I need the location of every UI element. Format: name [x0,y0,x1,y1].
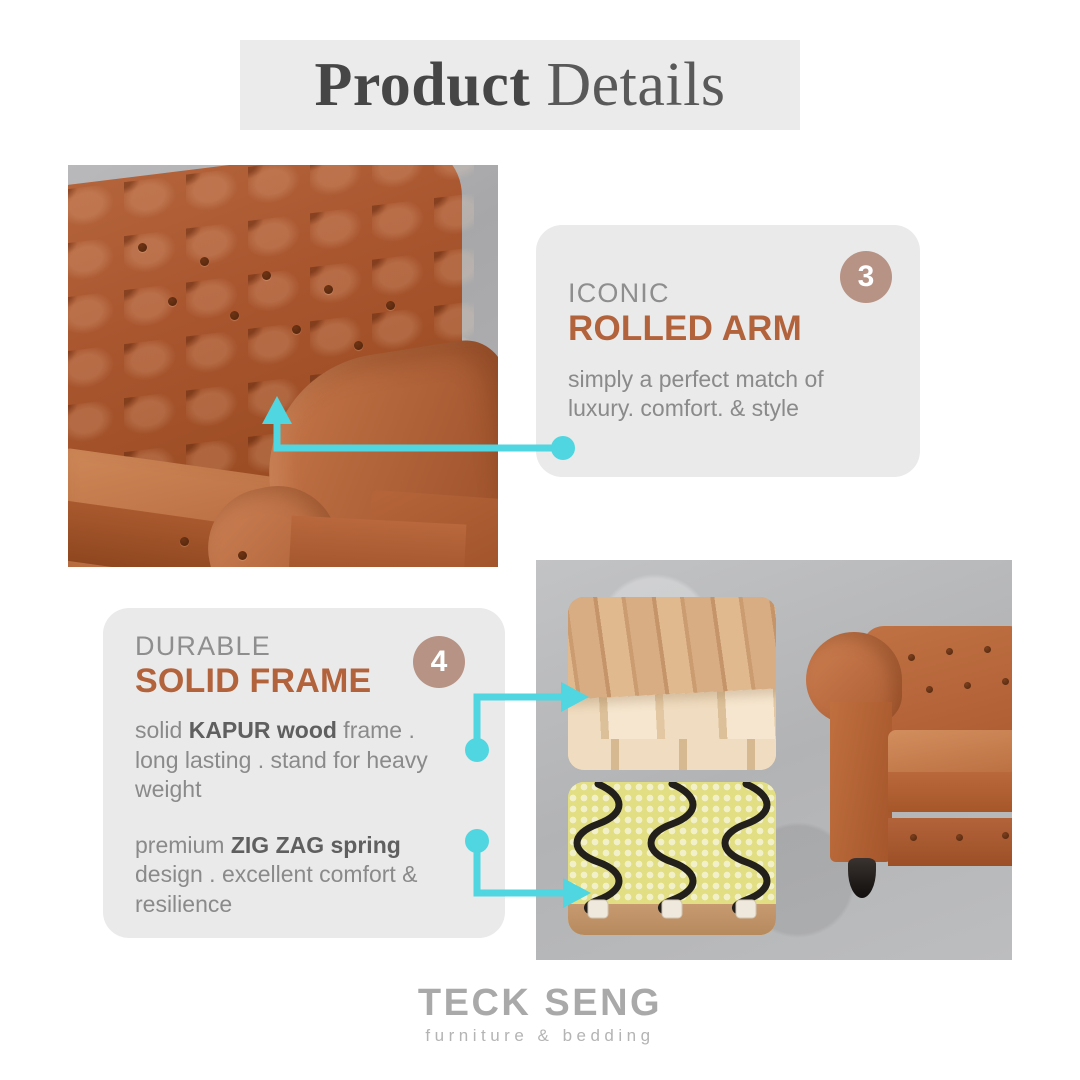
brand-footer: TECK SENG furniture & bedding [0,984,1080,1046]
feature-card-solid-frame[interactable]: 4 DURABLE SOLID FRAME solid KAPUR wood f… [103,608,505,938]
leather-sofa-illustration [68,165,498,567]
page-title-strong: Product [314,51,530,119]
page-title-text: Product Details [314,50,725,121]
kapur-wood-photo [568,597,776,770]
page-title: Product Details [240,40,800,130]
card-3-eyebrow: ICONIC [568,279,898,307]
rolled-arm-photo [68,165,498,567]
card-4-headline: SOLID FRAME [135,662,455,700]
card-4-p1-pre: solid [135,717,189,743]
card-4-content: DURABLE SOLID FRAME solid KAPUR wood fra… [135,632,455,919]
solid-frame-photo-panel [536,560,1012,960]
card-4-p2-bold: ZIG ZAG spring [231,832,401,858]
card-4-eyebrow: DURABLE [135,632,455,660]
sofa-cutout-illustration [804,620,1012,920]
zig-zag-spring-photo [568,782,776,935]
card-3-content: ICONIC ROLLED ARM simply a perfect match… [568,279,898,423]
card-3-body: simply a perfect match of luxury. comfor… [568,365,898,424]
poster-canvas: Product Details [0,0,1080,1080]
spring-coils-icon [568,782,776,935]
card-4-p2-pre: premium [135,832,231,858]
card-4-paragraph-2: premium ZIG ZAG spring design . excellen… [135,831,455,919]
feature-card-rolled-arm[interactable]: 3 ICONIC ROLLED ARM simply a perfect mat… [536,225,920,477]
card-4-p2-post: design . excellent comfort & resilience [135,861,418,916]
card-3-body-line-2: luxury. comfort. & style [568,394,898,423]
card-4-p1-bold: KAPUR wood [189,717,337,743]
card-3-body-line-1: simply a perfect match of [568,365,898,394]
page-title-light: Details [530,51,725,119]
card-3-headline: ROLLED ARM [568,309,898,348]
brand-tagline: furniture & bedding [0,1026,1080,1046]
card-4-paragraph-1: solid KAPUR wood frame . long lasting . … [135,716,455,804]
brand-name: TECK SENG [0,984,1080,1024]
